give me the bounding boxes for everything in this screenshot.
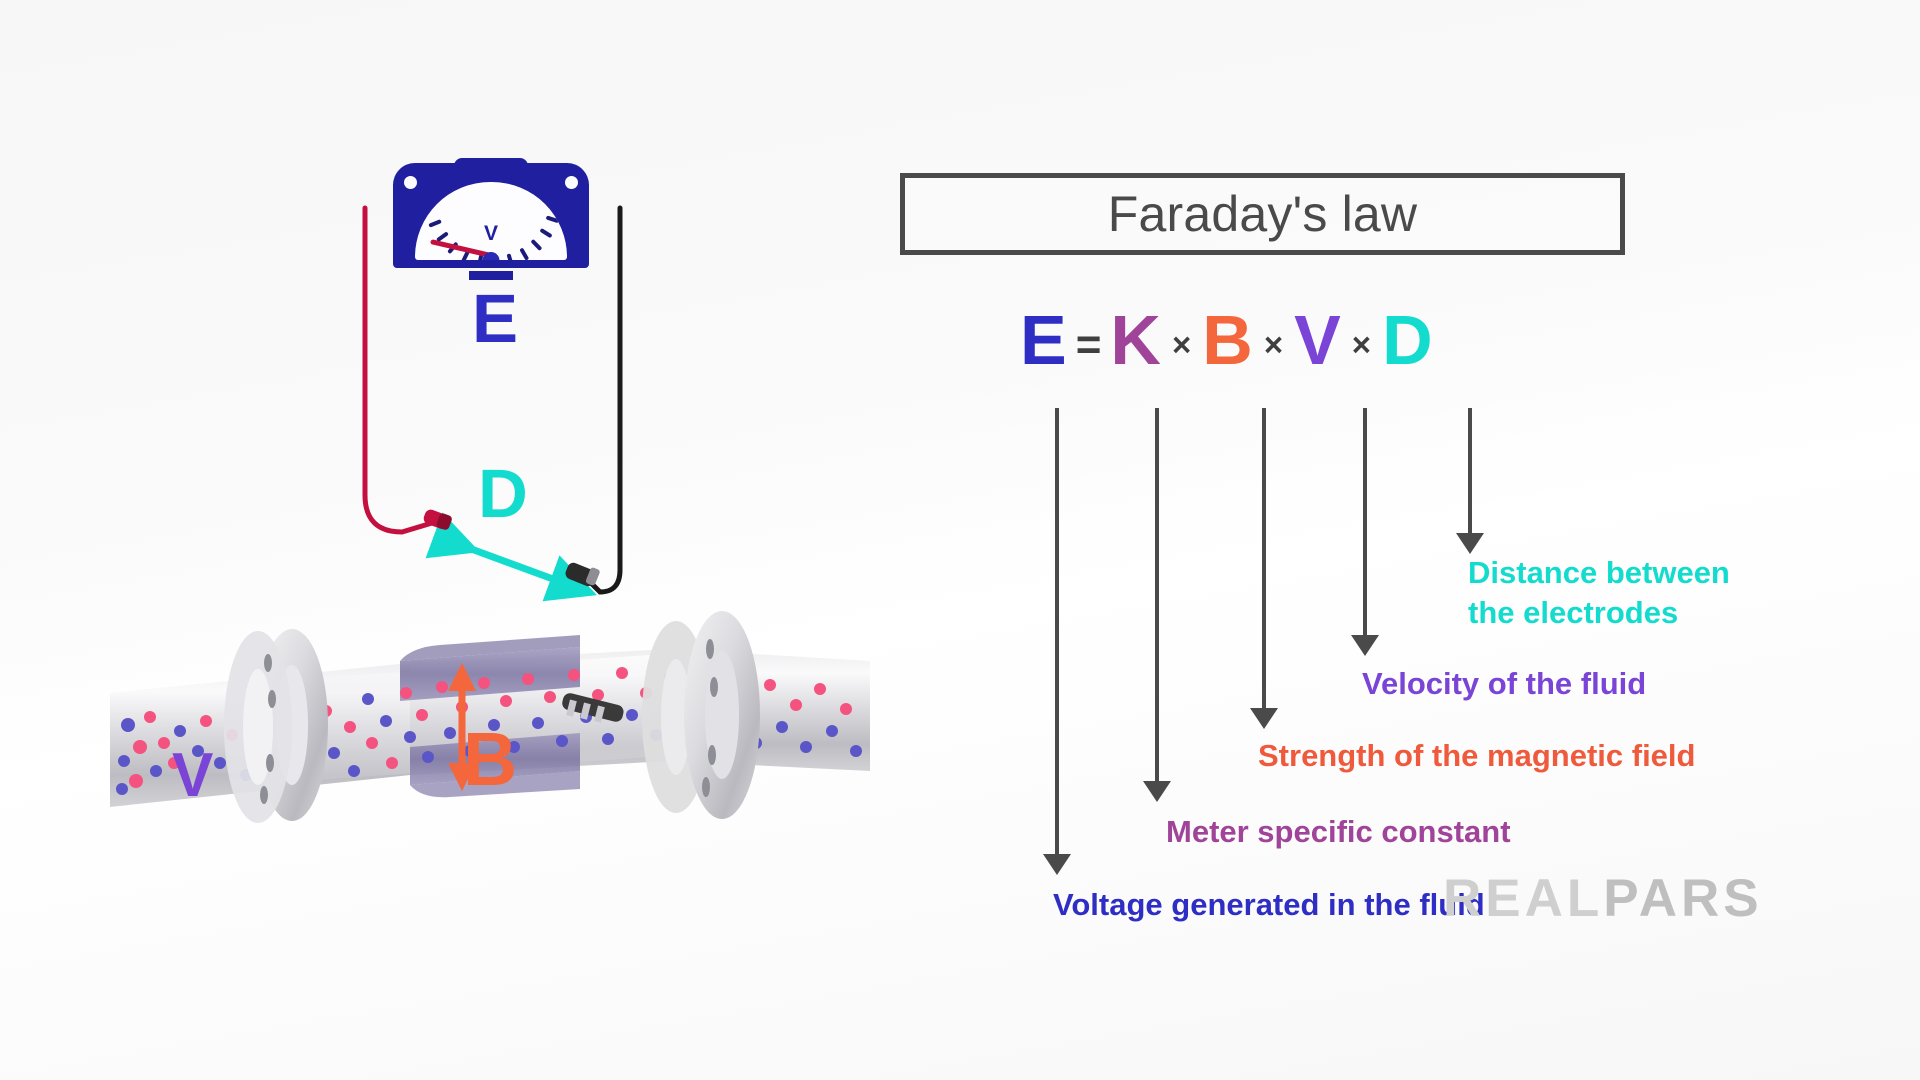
voltmeter-base bbox=[469, 271, 513, 280]
watermark-part-1: REAL bbox=[1443, 869, 1603, 928]
flange-right bbox=[642, 611, 760, 819]
voltmeter-needle bbox=[430, 239, 492, 258]
dial-tick bbox=[530, 239, 542, 251]
dial-tick bbox=[428, 219, 442, 228]
definition-label-e: Voltage generated in the fluid bbox=[1053, 885, 1485, 925]
faraday-formula: E = K × B × V × D bbox=[1020, 305, 1433, 383]
connector-arrow-v bbox=[1363, 408, 1367, 637]
electrode-red bbox=[422, 508, 453, 531]
formula-term-e: E bbox=[1020, 305, 1067, 375]
watermark-part-2: PARS bbox=[1603, 869, 1762, 928]
formula-operator-times-3: × bbox=[1352, 328, 1371, 361]
definition-label-b: Strength of the magnetic field bbox=[1258, 736, 1695, 776]
voltmeter-unit-label: V bbox=[484, 222, 498, 246]
connector-arrow-k bbox=[1155, 408, 1159, 783]
connector-arrow-d bbox=[1468, 408, 1472, 535]
connector-arrow-b bbox=[1262, 408, 1266, 710]
definition-label-k: Meter specific constant bbox=[1166, 812, 1511, 852]
realpars-watermark: REALPARS bbox=[1443, 868, 1763, 929]
page-title: Faraday's law bbox=[1108, 185, 1418, 243]
symbol-mark-b: B bbox=[463, 722, 517, 797]
definition-label-d-line2: the electrodes bbox=[1468, 595, 1678, 630]
connector-arrow-e bbox=[1055, 408, 1059, 856]
dial-tick bbox=[507, 253, 514, 260]
definition-label-v: Velocity of the fluid bbox=[1362, 664, 1646, 704]
symbol-mark-e: E bbox=[472, 284, 518, 353]
symbol-mark-v: V bbox=[172, 745, 213, 807]
formula-term-d: D bbox=[1382, 305, 1433, 375]
flange-left bbox=[224, 629, 328, 823]
symbol-mark-d: D bbox=[478, 459, 528, 528]
magnetic-flowmeter bbox=[110, 575, 930, 915]
voltmeter-screw-right bbox=[565, 176, 578, 189]
voltmeter-needle-hub bbox=[483, 252, 500, 260]
formula-term-b: B bbox=[1202, 305, 1253, 375]
dial-tick bbox=[539, 228, 552, 238]
voltmeter-screw-left bbox=[404, 176, 417, 189]
formula-term-v: V bbox=[1294, 305, 1341, 375]
formula-operator-equals: = bbox=[1076, 323, 1102, 367]
dial-tick bbox=[519, 247, 529, 260]
definition-label-d-line1: Distance between bbox=[1468, 555, 1730, 590]
formula-operator-times-1: × bbox=[1172, 328, 1191, 361]
formula-operator-times-2: × bbox=[1264, 328, 1283, 361]
faraday-law-diagram: V E D bbox=[0, 0, 1920, 1080]
formula-term-k: K bbox=[1110, 305, 1161, 375]
faraday-law-title-box: Faraday's law bbox=[900, 173, 1625, 255]
definition-label-d: Distance between the electrodes bbox=[1468, 553, 1828, 632]
voltmeter: V bbox=[393, 163, 589, 268]
